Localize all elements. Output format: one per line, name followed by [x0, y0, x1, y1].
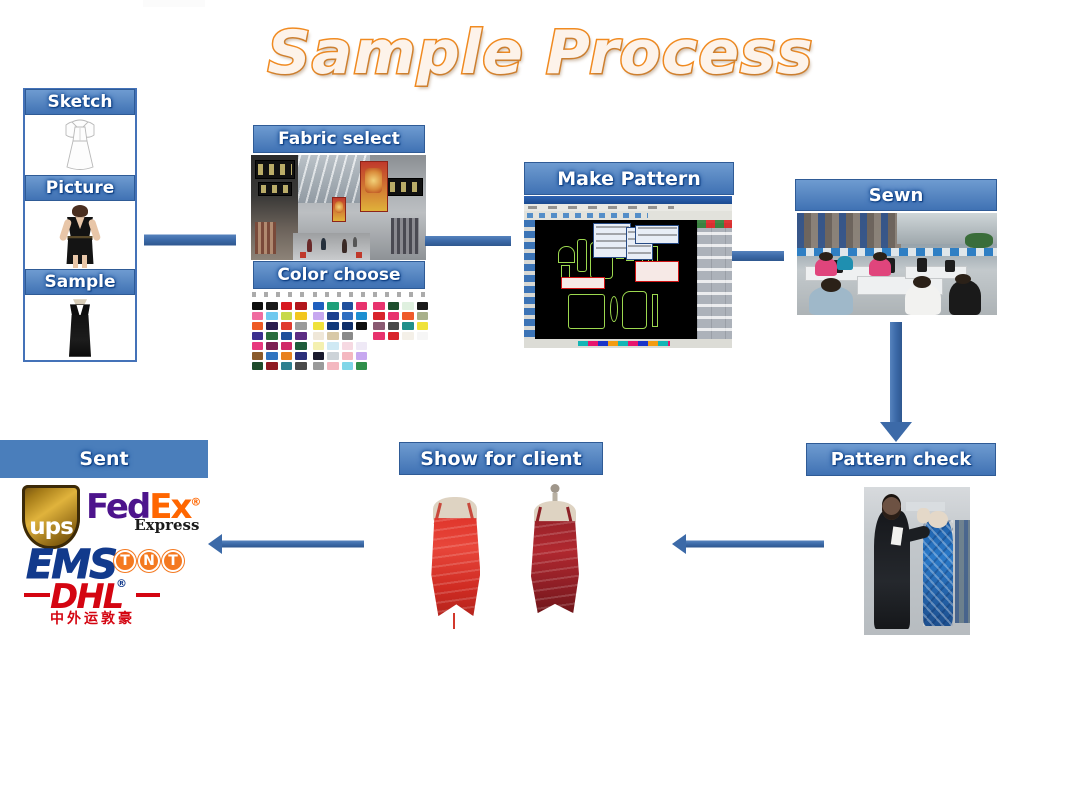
dhl-streak-left [24, 593, 50, 597]
color-group-1 [252, 292, 307, 366]
fitting-blue-lace-dress-photo [864, 487, 970, 635]
dress-line-drawing-icon [54, 116, 106, 172]
color-swatch-card [252, 292, 428, 366]
fabric-market-photo [251, 155, 426, 260]
tnt-letter-3: T [162, 550, 184, 572]
arrow-show-client-to-sent [208, 533, 364, 555]
color-group-2 [313, 292, 368, 366]
two-red-dresses-on-mannequins-photo [396, 478, 608, 638]
sewing-factory-floor-photo [797, 213, 997, 315]
color-choose-header: Color choose [253, 261, 425, 289]
make-pattern-image [524, 196, 732, 348]
sample-header: Sample [25, 269, 135, 295]
sketch-header: Sketch [25, 89, 135, 115]
dhl-streak-right [136, 593, 160, 597]
make-pattern-label: Make Pattern [557, 168, 701, 190]
picture-label: Picture [46, 178, 115, 198]
sent-header: Sent [0, 440, 208, 478]
fabric-market-image [251, 155, 426, 260]
cad-pattern-software-screenshot [524, 196, 732, 348]
fabric-select-label: Fabric select [278, 129, 400, 149]
sewn-image [797, 213, 997, 315]
red-dress-left [430, 518, 480, 616]
picture-image [25, 202, 135, 268]
tnt-letter-1: T [114, 550, 136, 572]
color-group-3 [373, 292, 428, 366]
dhl-logo: DHL 中外运敦豪 [50, 580, 135, 626]
arrow-sewn-to-pattern-check [880, 322, 912, 442]
pattern-check-label: Pattern check [831, 449, 972, 470]
fedex-registered-mark: ® [190, 496, 199, 509]
sample-label: Sample [45, 272, 116, 292]
ups-logo: ups [22, 485, 80, 549]
fedex-logo: FedEx® Express [86, 492, 199, 532]
page-title: Sample Process [0, 18, 1081, 88]
arrow-pattern-to-sewn [732, 245, 798, 267]
show-for-client-label: Show for client [420, 448, 582, 470]
sent-label: Sent [79, 448, 128, 470]
picture-header: Picture [25, 175, 135, 201]
color-choose-label: Color choose [277, 265, 400, 285]
pattern-check-header: Pattern check [806, 443, 996, 476]
ups-shield-icon: ups [22, 485, 80, 549]
arrow-pattern-check-to-show-client [672, 533, 824, 555]
fabric-select-header: Fabric select [253, 125, 425, 153]
arrow-fabric-to-pattern [425, 230, 525, 252]
dhl-chinese-text: 中外运敦豪 [50, 612, 135, 626]
sample-image [25, 296, 135, 360]
model-black-dress-photo [25, 202, 135, 268]
sketch-image [25, 116, 135, 174]
show-for-client-image [396, 478, 608, 638]
sketch-label: Sketch [48, 92, 113, 112]
slide-canvas: Sample Process Sketch Picture [0, 0, 1081, 810]
tnt-letter-2: N [138, 550, 160, 572]
pattern-check-image [864, 487, 970, 635]
mannequin-red-dress-left [409, 484, 502, 638]
sewn-label: Sewn [869, 185, 924, 206]
arrow-design-to-fabric [144, 228, 252, 252]
mannequin-red-dress-right [510, 481, 599, 635]
sewn-header: Sewn [795, 179, 997, 211]
black-gown-on-form-photo [25, 296, 135, 360]
red-dress-right [531, 521, 579, 613]
top-artifact [143, 0, 205, 7]
show-for-client-header: Show for client [399, 442, 603, 475]
tnt-logo: T N T [114, 550, 184, 572]
sent-carriers-panel: ups FedEx® Express EMS® T N T DHL 中外运敦豪 [0, 480, 208, 635]
make-pattern-header: Make Pattern [524, 162, 734, 195]
